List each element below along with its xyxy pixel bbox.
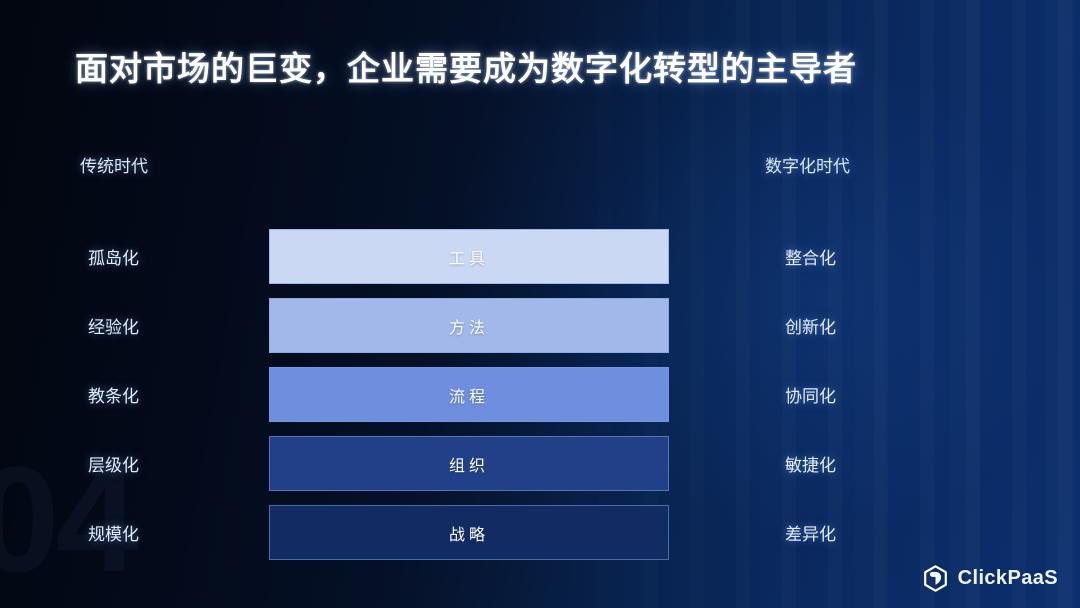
center-bar-label: 方法 — [449, 314, 489, 338]
comparison-row: 层级化 组织 敏捷化 — [0, 436, 1080, 505]
center-bar-label: 组织 — [449, 452, 489, 476]
comparison-rows: 孤岛化 工具 整合化 经验化 方法 创新化 教条化 流程 协同化 层级化 组织 … — [0, 229, 1080, 574]
center-bar[interactable]: 流程 — [269, 367, 669, 422]
left-label: 教条化 — [88, 367, 139, 422]
left-label: 经验化 — [88, 298, 139, 353]
center-bar[interactable]: 组织 — [269, 436, 669, 491]
hexagon-logo-icon — [922, 565, 949, 592]
right-label: 整合化 — [785, 229, 836, 284]
center-bar[interactable]: 战略 — [269, 505, 669, 560]
right-label: 敏捷化 — [785, 436, 836, 491]
center-bar[interactable]: 方法 — [269, 298, 669, 353]
right-label: 协同化 — [785, 367, 836, 422]
column-header-digital: 数字化时代 — [765, 152, 850, 177]
right-label: 创新化 — [785, 298, 836, 353]
right-label: 差异化 — [785, 505, 836, 560]
comparison-row: 经验化 方法 创新化 — [0, 298, 1080, 367]
left-label: 规模化 — [88, 505, 139, 560]
center-bar-label: 流程 — [449, 383, 489, 407]
left-label: 层级化 — [88, 436, 139, 491]
slide-title: 面对市场的巨变，企业需要成为数字化转型的主导者 — [75, 42, 857, 90]
comparison-row: 孤岛化 工具 整合化 — [0, 229, 1080, 298]
brand-name: ClickPaaS — [958, 567, 1058, 590]
center-bar-label: 战略 — [449, 521, 489, 545]
center-bar[interactable]: 工具 — [269, 229, 669, 284]
left-label: 孤岛化 — [88, 229, 139, 284]
comparison-row: 教条化 流程 协同化 — [0, 367, 1080, 436]
comparison-row: 规模化 战略 差异化 — [0, 505, 1080, 574]
brand-logo: ClickPaaS — [922, 565, 1058, 592]
center-bar-label: 工具 — [449, 245, 489, 269]
column-header-traditional: 传统时代 — [80, 152, 148, 177]
